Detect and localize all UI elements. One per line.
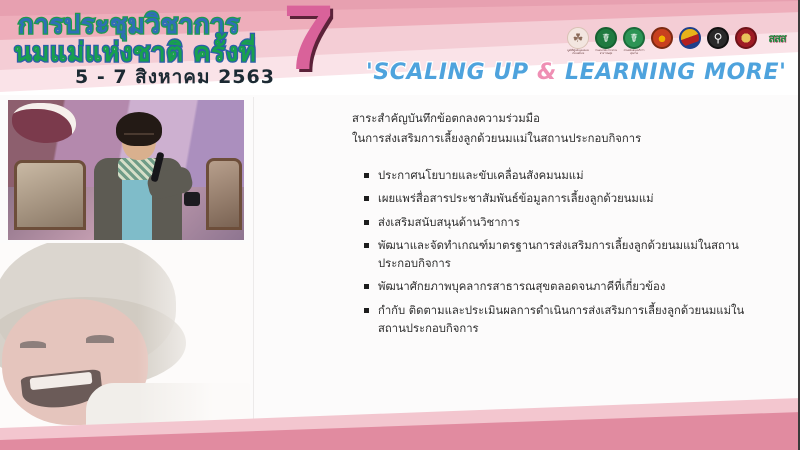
list-item: พัฒนาศักยภาพบุคลากรสาธารณสุขตลอดจนภาคีที… [364,278,764,296]
intro-line-1: สาระสำคัญบันทึกข้อตกลงความร่วมมือ [352,109,752,129]
speaker-hair [116,112,162,146]
logo-thai-royal-seal-icon: ☘ [567,27,589,49]
presentation-clicker [184,192,200,206]
logo-royal-garuda-emblem [678,27,702,55]
logo-health-department-green: ☤ กรมสนับสนุนบริการสุขภาพ [622,27,646,55]
logo-thai-royal-seal: ☘ มูลนิธิศูนย์นมแม่แห่งประเทศไทย [566,27,590,55]
speaker-glasses [124,133,154,140]
list-item: กำกับ ติดตามและประเมินผลการดำเนินการส่งเ… [364,302,764,339]
list-item: ส่งเสริมสนับสนุนด้านวิชาการ [364,214,764,232]
stage-chair-left [14,160,86,230]
logo-thaihealth-sss-icon: สสส [762,27,792,49]
conference-tagline: 'SCALING UP & LEARNING MORE' [366,60,786,85]
logo-health-department-green-icon: ☤ [623,27,645,49]
logo-red-garuda-seal [734,27,758,55]
slide-footer-banner [0,398,800,450]
sponsor-logo-strip: ☘ มูลนิธิศูนย์นมแม่แห่งประเทศไทย ☤ กรมอน… [566,27,792,55]
logo-caption: กรมอนามัย กระทรวงสาธารณสุข [594,49,618,55]
logo-ministry-public-health-green-icon: ☤ [595,27,617,49]
logo-ministry-public-health-green: ☤ กรมอนามัย กระทรวงสาธารณสุข [594,27,618,55]
logo-black-circle-emblem: ⚲ [706,27,730,55]
speaker-photo [8,100,244,240]
logo-thaihealth-sss: สสส [762,27,792,55]
list-item: พัฒนาและจัดทำเกณฑ์มาตรฐานการส่งเสริมการเ… [364,237,764,274]
logo-royal-garuda-emblem-icon [679,27,701,49]
content-divider [253,97,254,427]
slide-text-panel: สาระสำคัญบันทึกข้อตกลงความร่วมมือ ในการส… [266,95,766,435]
list-item: เผยแพร่สื่อสารประชาสัมพันธ์ข้อมูลการเลี้… [364,190,764,208]
logo-crown-emblem-red [650,27,674,55]
conference-date: 5 - 7 สิงหาคม 2563 [75,62,275,92]
stage-chair-right [206,158,242,230]
slide-intro-text: สาระสำคัญบันทึกข้อตกลงความร่วมมือ ในการส… [352,109,752,149]
tagline-text-part-2: LEARNING MORE' [557,60,787,85]
slide-header-banner: 7 การประชุมวิชาการ นมแม่แห่งชาติ ครั้งที… [0,0,800,95]
logo-red-garuda-seal-icon [735,27,757,49]
intro-line-2: ในการส่งเสริมการเลี้ยงลูกด้วยนมแม่ในสถาน… [352,129,752,149]
logo-caption: มูลนิธิศูนย์นมแม่แห่งประเทศไทย [566,49,590,55]
tagline-text-part-1: 'SCALING UP [366,60,537,85]
logo-crown-emblem-red-icon [651,27,673,49]
tagline-ampersand: & [537,60,557,85]
logo-black-circle-emblem-icon: ⚲ [707,27,729,49]
presentation-slide: 7 การประชุมวิชาการ นมแม่แห่งชาติ ครั้งที… [0,0,800,450]
slide-body: สาระสำคัญบันทึกข้อตกลงความร่วมมือ ในการส… [0,95,800,450]
conference-edition-number: 7 [283,0,334,84]
list-item: ประกาศนโยบายและขับเคลื่อนสังคมนมแม่ [364,167,764,185]
bullet-list: ประกาศนโยบายและขับเคลื่อนสังคมนมแม่ เผยแ… [364,167,764,343]
logo-caption: กรมสนับสนุนบริการสุขภาพ [622,49,646,55]
